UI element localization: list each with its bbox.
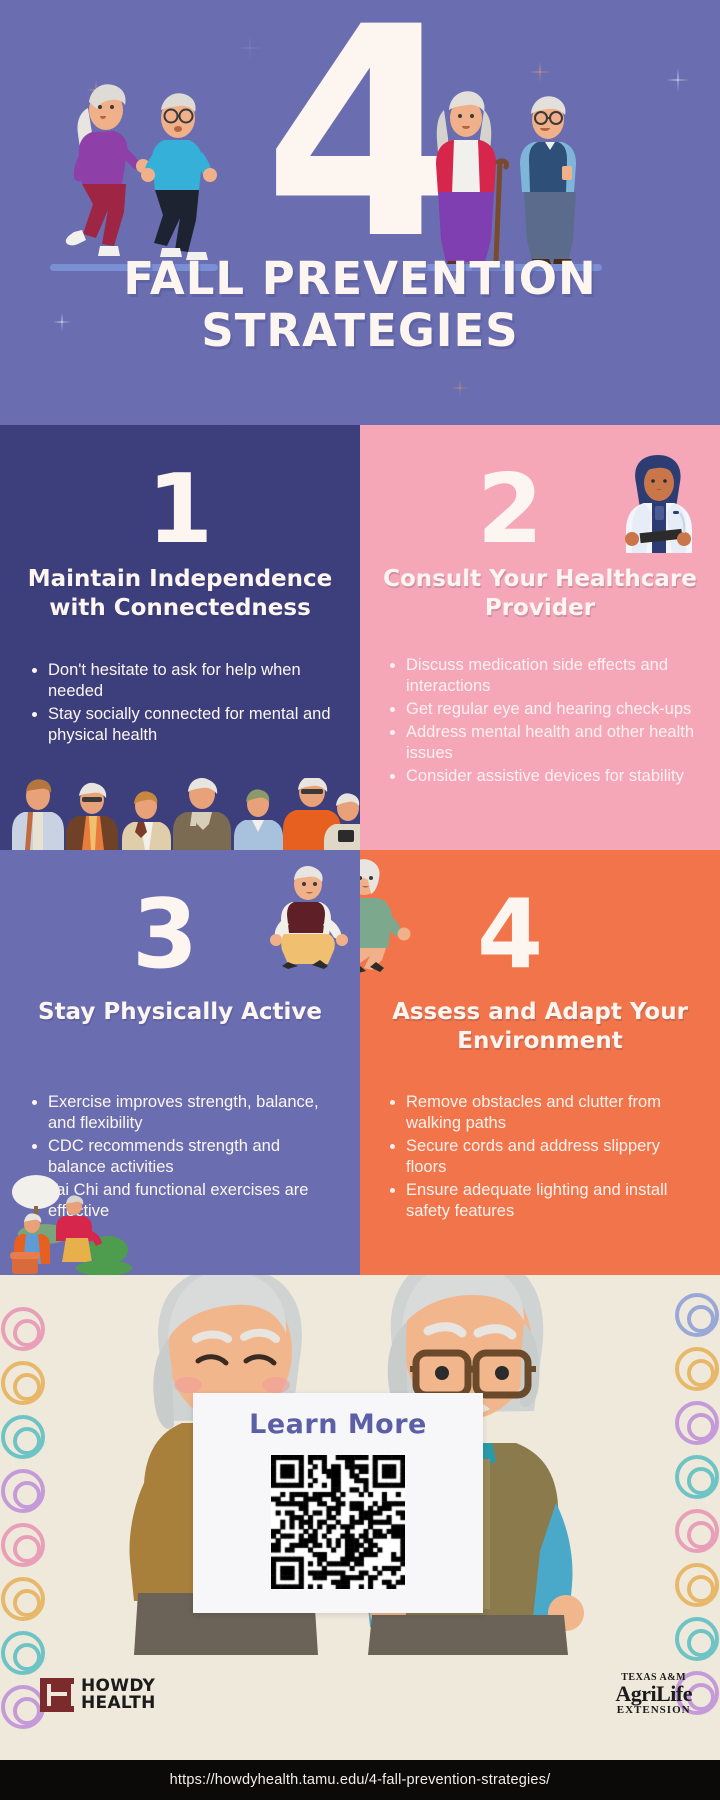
- howdy-health-mark-icon: [40, 1678, 74, 1712]
- list-item: Get regular eye and hearing check-ups: [388, 699, 702, 720]
- spiral-icon: [675, 1455, 719, 1499]
- section-bullets-1: Don't hesitate to ask for help when need…: [30, 660, 342, 748]
- group-of-seniors-illustration: [0, 778, 360, 850]
- section-card-2: 2 Consult Your Healthcare Provider: [360, 425, 720, 850]
- spiral-icon: [675, 1293, 719, 1337]
- section-card-3: 3 Stay Physically Active Exercise improv…: [0, 850, 360, 1275]
- spiral-icon: [1, 1415, 45, 1459]
- learn-more-sign: Learn More: [193, 1393, 483, 1613]
- spiral-icon: [675, 1347, 719, 1391]
- list-item: Consider assistive devices for stability: [388, 766, 702, 787]
- section-card-1: 1 Maintain Independence with Connectedne…: [0, 425, 360, 850]
- section-title-4: Assess and Adapt Your Environment: [378, 998, 702, 1056]
- list-item: Exercise improves strength, balance, and…: [30, 1092, 342, 1134]
- section-number-4: 4: [360, 888, 720, 983]
- hero-title-line-1: FALL PREVENTION: [0, 253, 720, 305]
- section-bullets-2: Discuss medication side effects and inte…: [388, 655, 702, 789]
- agrilife-line-3: EXTENSION: [615, 1704, 692, 1716]
- list-item: Discuss medication side effects and inte…: [388, 655, 702, 697]
- hero-left-illustration: [52, 74, 232, 264]
- hero-title: FALL PREVENTION STRATEGIES: [0, 253, 720, 357]
- url-text: https://howdyhealth.tamu.edu/4-fall-prev…: [170, 1772, 551, 1788]
- footer-section: Learn More HOWDY HEALTH TEXAS A&M AgriLi…: [0, 1275, 720, 1760]
- section-card-4: 4 Assess and Adapt Your Environment Remo…: [360, 850, 720, 1275]
- section-bullets-4: Remove obstacles and clutter from walkin…: [388, 1092, 702, 1224]
- section-title-2: Consult Your Healthcare Provider: [378, 565, 702, 623]
- qr-code-icon[interactable]: [271, 1455, 405, 1589]
- howdy-health-logo: HOWDY HEALTH: [40, 1678, 156, 1712]
- spiral-icon: [675, 1563, 719, 1607]
- seniors-gardening-illustration: [4, 1172, 134, 1275]
- exercising-senior-man-illustration: [258, 862, 346, 970]
- spiral-icon: [1, 1685, 45, 1729]
- list-item: Secure cords and address slippery floors: [388, 1136, 702, 1178]
- list-item: Address mental health and other health i…: [388, 722, 702, 764]
- hero-right-illustration: [412, 78, 592, 266]
- url-bar: https://howdyhealth.tamu.edu/4-fall-prev…: [0, 1760, 720, 1800]
- list-item: Ensure adequate lighting and install saf…: [388, 1180, 702, 1222]
- spiral-icon: [1, 1523, 45, 1567]
- spiral-icon: [1, 1361, 45, 1405]
- spiral-icon: [1, 1577, 45, 1621]
- list-item: Stay socially connected for mental and p…: [30, 704, 342, 746]
- section-title-1: Maintain Independence with Connectedness: [18, 565, 342, 623]
- spiral-icon: [675, 1509, 719, 1553]
- exercising-senior-woman-illustration: [360, 854, 414, 974]
- section-title-3: Stay Physically Active: [18, 998, 342, 1027]
- spiral-icon: [675, 1617, 719, 1661]
- list-item: Don't hesitate to ask for help when need…: [30, 660, 342, 702]
- agrilife-extension-logo: TEXAS A&M AgriLife EXTENSION: [615, 1672, 692, 1716]
- section-number-1: 1: [0, 463, 360, 558]
- howdy-health-line-2: HEALTH: [81, 1695, 156, 1712]
- spiral-icon: [1, 1631, 45, 1675]
- doctor-illustration: [618, 453, 700, 553]
- learn-more-label: Learn More: [193, 1409, 483, 1440]
- list-item: Remove obstacles and clutter from walkin…: [388, 1092, 702, 1134]
- howdy-health-logo-text: HOWDY HEALTH: [81, 1678, 156, 1712]
- hero-section: 4: [0, 0, 720, 425]
- agrilife-line-2: AgriLife: [615, 1683, 692, 1704]
- spiral-icon: [675, 1401, 719, 1445]
- spiral-icon: [1, 1307, 45, 1351]
- spiral-icon: [1, 1469, 45, 1513]
- hero-title-line-2: STRATEGIES: [0, 305, 720, 357]
- infographic-page: 4: [0, 0, 720, 1800]
